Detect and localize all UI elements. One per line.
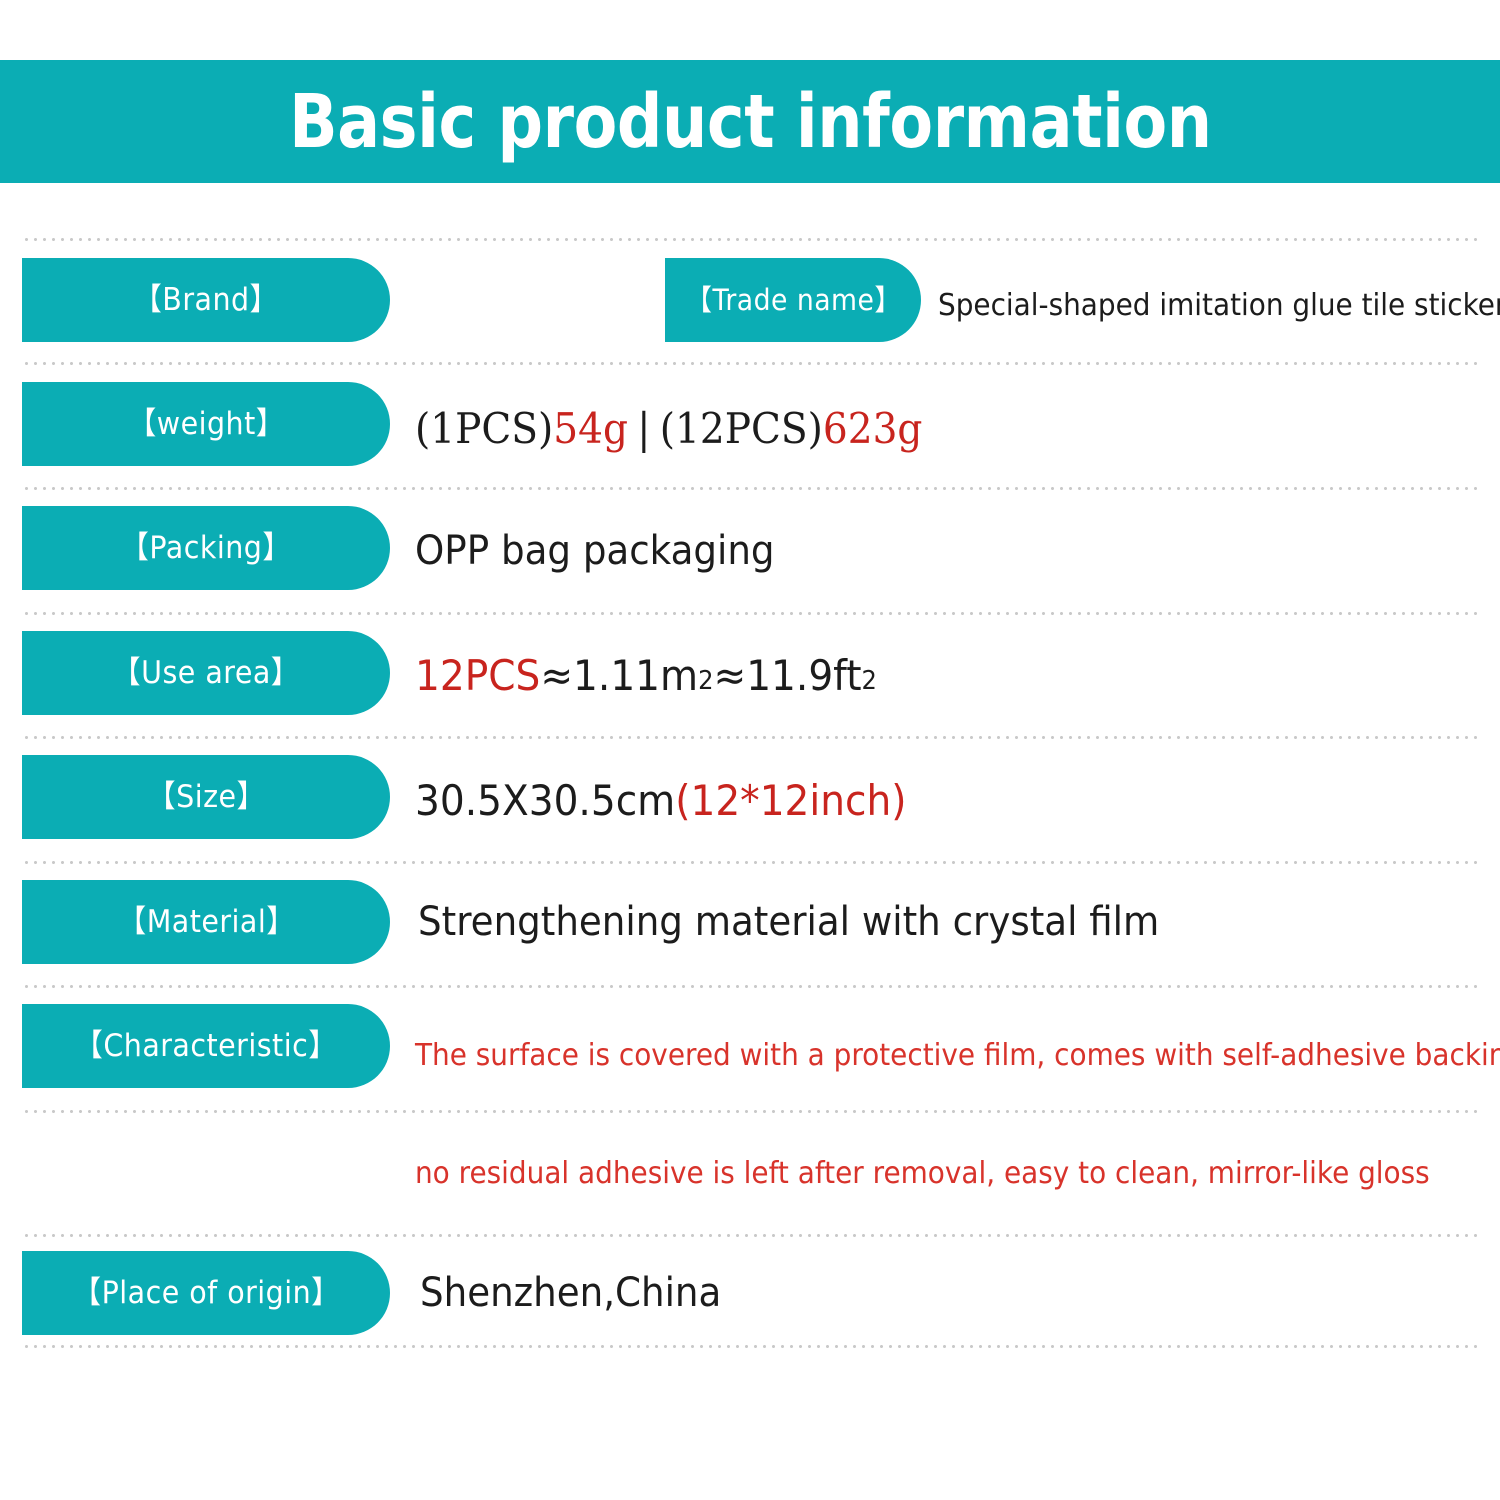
row-separator: [22, 487, 1478, 490]
page-title: Basic product information: [289, 85, 1212, 159]
label-pill-brand: 【Brand】: [22, 258, 390, 342]
value-use-area: 12PCS≈1.11m2≈11.9ft2: [415, 655, 877, 697]
weight-separator: |: [628, 404, 660, 453]
label-text: 【weight】: [128, 409, 285, 440]
label-pill-material: 【Material】: [22, 880, 390, 964]
weight-12pcs-value: 623g: [823, 404, 923, 453]
label-text: 【Use area】: [112, 658, 300, 689]
row-separator: [22, 861, 1478, 864]
weight-1pcs-label: (1PCS): [415, 404, 553, 453]
use-area-metric: ≈1.11m: [540, 651, 698, 700]
label-pill-trade-name: 【Trade name】: [665, 258, 921, 342]
label-text: 【Characteristic】: [75, 1031, 338, 1062]
row-separator: [22, 612, 1478, 615]
row-separator: [22, 1234, 1478, 1237]
row-separator: [22, 736, 1478, 739]
label-text: 【Brand】: [133, 285, 278, 316]
page-header-banner: Basic product information: [0, 60, 1500, 183]
use-area-imperial-sup: 2: [862, 666, 877, 696]
label-pill-packing: 【Packing】: [22, 506, 390, 590]
value-material: Strengthening material with crystal film: [418, 902, 1159, 942]
label-pill-size: 【Size】: [22, 755, 390, 839]
value-size: 30.5X30.5cm(12*12inch): [415, 780, 906, 822]
size-cm: 30.5X30.5cm: [415, 776, 675, 825]
weight-1pcs-value: 54g: [553, 404, 628, 453]
row-separator: [22, 238, 1478, 241]
value-characteristic-line-1: The surface is covered with a protective…: [415, 1041, 1500, 1071]
label-pill-place-of-origin: 【Place of origin】: [22, 1251, 390, 1335]
use-area-pcs: 12PCS: [415, 651, 540, 700]
row-separator: [22, 362, 1478, 365]
value-characteristic-line-2: no residual adhesive is left after remov…: [415, 1159, 1430, 1189]
label-pill-use-area: 【Use area】: [22, 631, 390, 715]
row-separator: [22, 1345, 1478, 1348]
size-inch: (12*12inch): [675, 776, 906, 825]
row-separator: [22, 1110, 1478, 1113]
label-text: 【Material】: [117, 907, 295, 938]
label-pill-weight: 【weight】: [22, 382, 390, 466]
row-separator: [22, 985, 1478, 988]
use-area-metric-sup: 2: [698, 666, 713, 696]
value-weight: (1PCS)54g|(12PCS)623g: [415, 408, 922, 450]
value-trade-name: Special-shaped imitation glue tile stick…: [938, 291, 1500, 321]
value-place-of-origin: Shenzhen,China: [420, 1273, 721, 1313]
weight-12pcs-label: (12PCS): [660, 404, 823, 453]
label-text: 【Place of origin】: [72, 1278, 340, 1309]
label-text: 【Size】: [147, 782, 265, 813]
label-text: 【Trade name】: [685, 286, 901, 315]
label-text: 【Packing】: [121, 533, 292, 564]
label-pill-characteristic: 【Characteristic】: [22, 1004, 390, 1088]
use-area-imperial: ≈11.9ft: [713, 651, 861, 700]
value-packing: OPP bag packaging: [415, 531, 775, 571]
